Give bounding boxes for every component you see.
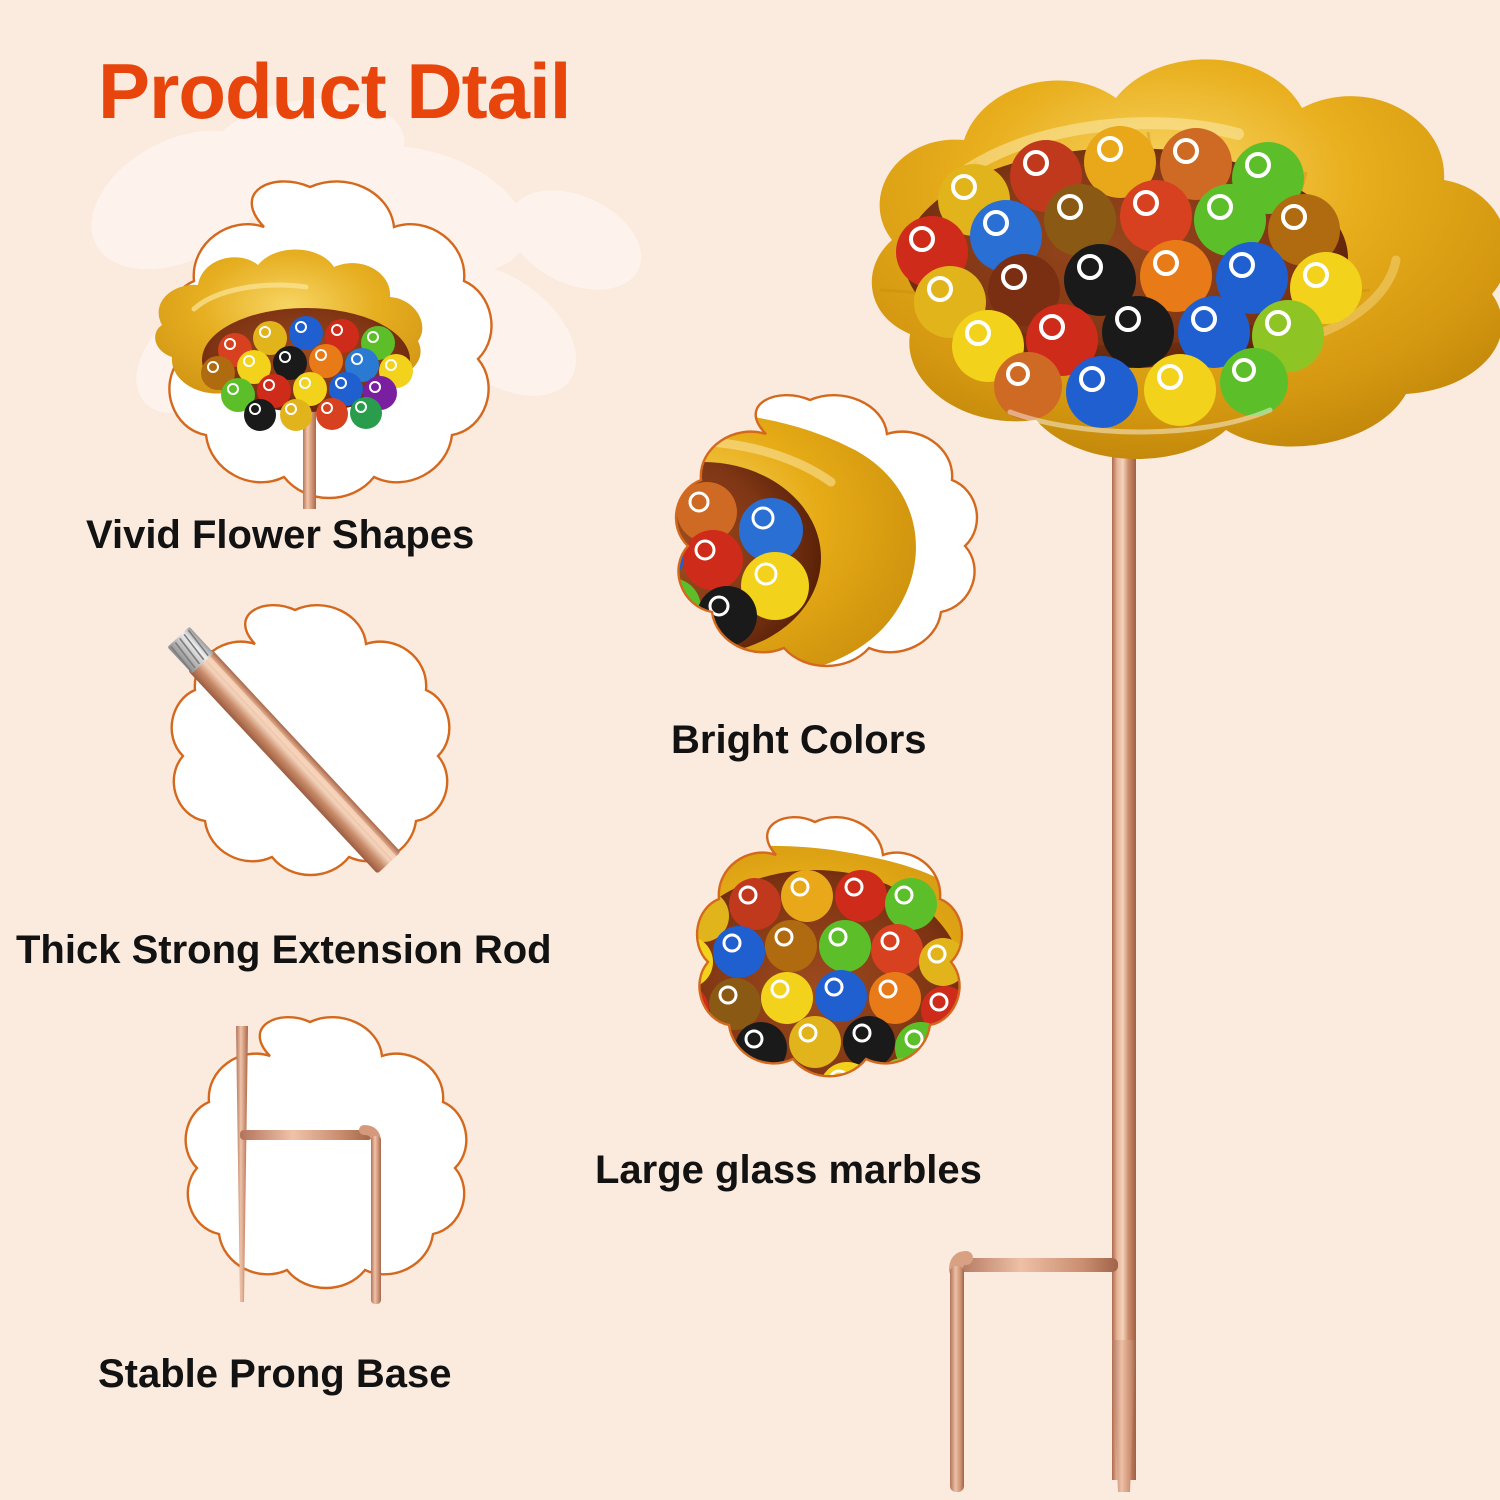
feature-thick-strong-extension-rod: Thick Strong Extension Rod	[128, 600, 548, 1000]
callout-bubble-1	[110, 175, 510, 515]
hero-product-image	[760, 40, 1480, 1500]
bubble-outline-shape	[186, 1017, 467, 1288]
product-flower-dish	[872, 59, 1500, 459]
feature-label-stable-prong-base: Stable Prong Base	[98, 1354, 451, 1394]
feature-label-thick-strong-extension-rod: Thick Strong Extension Rod	[16, 930, 552, 970]
product-detail-page: Product Dtail	[0, 0, 1500, 1500]
page-title: Product Dtail	[98, 52, 570, 130]
feature-vivid-flower-shapes: Vivid Flower Shapes	[110, 175, 540, 595]
feature-label-vivid-flower-shapes: Vivid Flower Shapes	[86, 515, 474, 555]
callout-bubble-3	[140, 1012, 480, 1337]
callout-bubble-2	[128, 600, 463, 925]
bubble-outline-shape	[172, 605, 450, 875]
product-prong-base	[950, 1258, 1136, 1492]
product-rod	[1112, 340, 1136, 1480]
feature-stable-prong-base: Stable Prong Base	[140, 1012, 570, 1432]
